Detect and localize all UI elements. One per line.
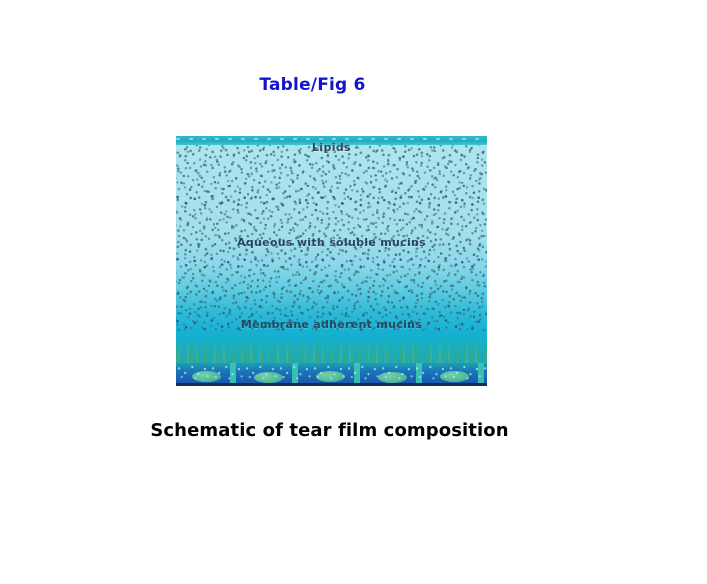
figure-block: Lipids Aqueous with soluble mucins Membr… <box>176 136 487 386</box>
aqueous-layer <box>176 145 487 331</box>
tear-film-schematic-image: Lipids Aqueous with soluble mucins Membr… <box>176 136 487 386</box>
figure-title: Table/Fig 6 <box>0 75 707 95</box>
image-baseline-rule <box>176 383 487 386</box>
lipid-layer-band <box>176 136 487 145</box>
slide-canvas: Table/Fig 6 Lipids Aqueou <box>0 0 707 584</box>
figure-caption: Schematic of tear film composition <box>0 420 707 441</box>
mucin-particle-speckles-tertiary <box>176 145 487 331</box>
